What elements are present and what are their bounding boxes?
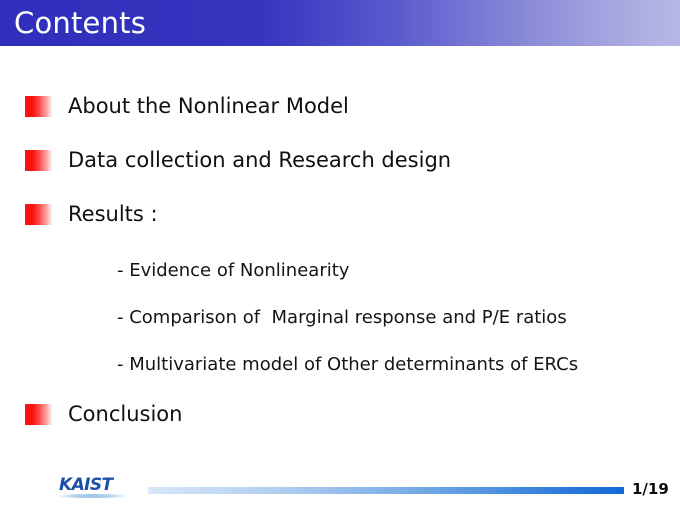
red-square-bullet-icon	[25, 150, 52, 171]
outline-item-label: Data collection and Research design	[68, 144, 451, 176]
outline-subitem-label: - Comparison of Marginal response and P/…	[117, 304, 567, 332]
outline-item-results[interactable]: Results :	[0, 198, 680, 232]
slide-header-bar: Contents	[0, 0, 680, 46]
outline-item-data-collection[interactable]: Data collection and Research design	[0, 144, 680, 178]
outline-subitem-evidence[interactable]: - Evidence of Nonlinearity	[0, 257, 680, 287]
slide-progress-bar	[148, 487, 624, 494]
kaist-wordmark: KAIST	[59, 476, 113, 494]
outline-item-label: Results :	[68, 198, 158, 230]
outline-subitem-label: - Multivariate model of Other determinan…	[117, 351, 578, 379]
kaist-logo: KAIST	[59, 476, 123, 500]
outline-subitem-label: - Evidence of Nonlinearity	[117, 257, 349, 285]
outline-list: About the Nonlinear Model Data collectio…	[0, 46, 680, 466]
page-number: 1/19	[632, 479, 669, 499]
red-square-bullet-icon	[25, 404, 52, 425]
outline-item-label: About the Nonlinear Model	[68, 90, 349, 122]
red-square-bullet-icon	[25, 96, 52, 117]
presentation-slide: Contents About the Nonlinear Model Data …	[0, 0, 680, 510]
page-title: Contents	[14, 3, 146, 43]
logo-underline-swoosh-icon	[57, 494, 127, 498]
outline-item-conclusion[interactable]: Conclusion	[0, 398, 680, 432]
outline-subitem-multivariate[interactable]: - Multivariate model of Other determinan…	[0, 351, 680, 381]
outline-item-about[interactable]: About the Nonlinear Model	[0, 90, 680, 124]
outline-subitem-comparison[interactable]: - Comparison of Marginal response and P/…	[0, 304, 680, 334]
red-square-bullet-icon	[25, 204, 52, 225]
outline-item-label: Conclusion	[68, 398, 182, 430]
